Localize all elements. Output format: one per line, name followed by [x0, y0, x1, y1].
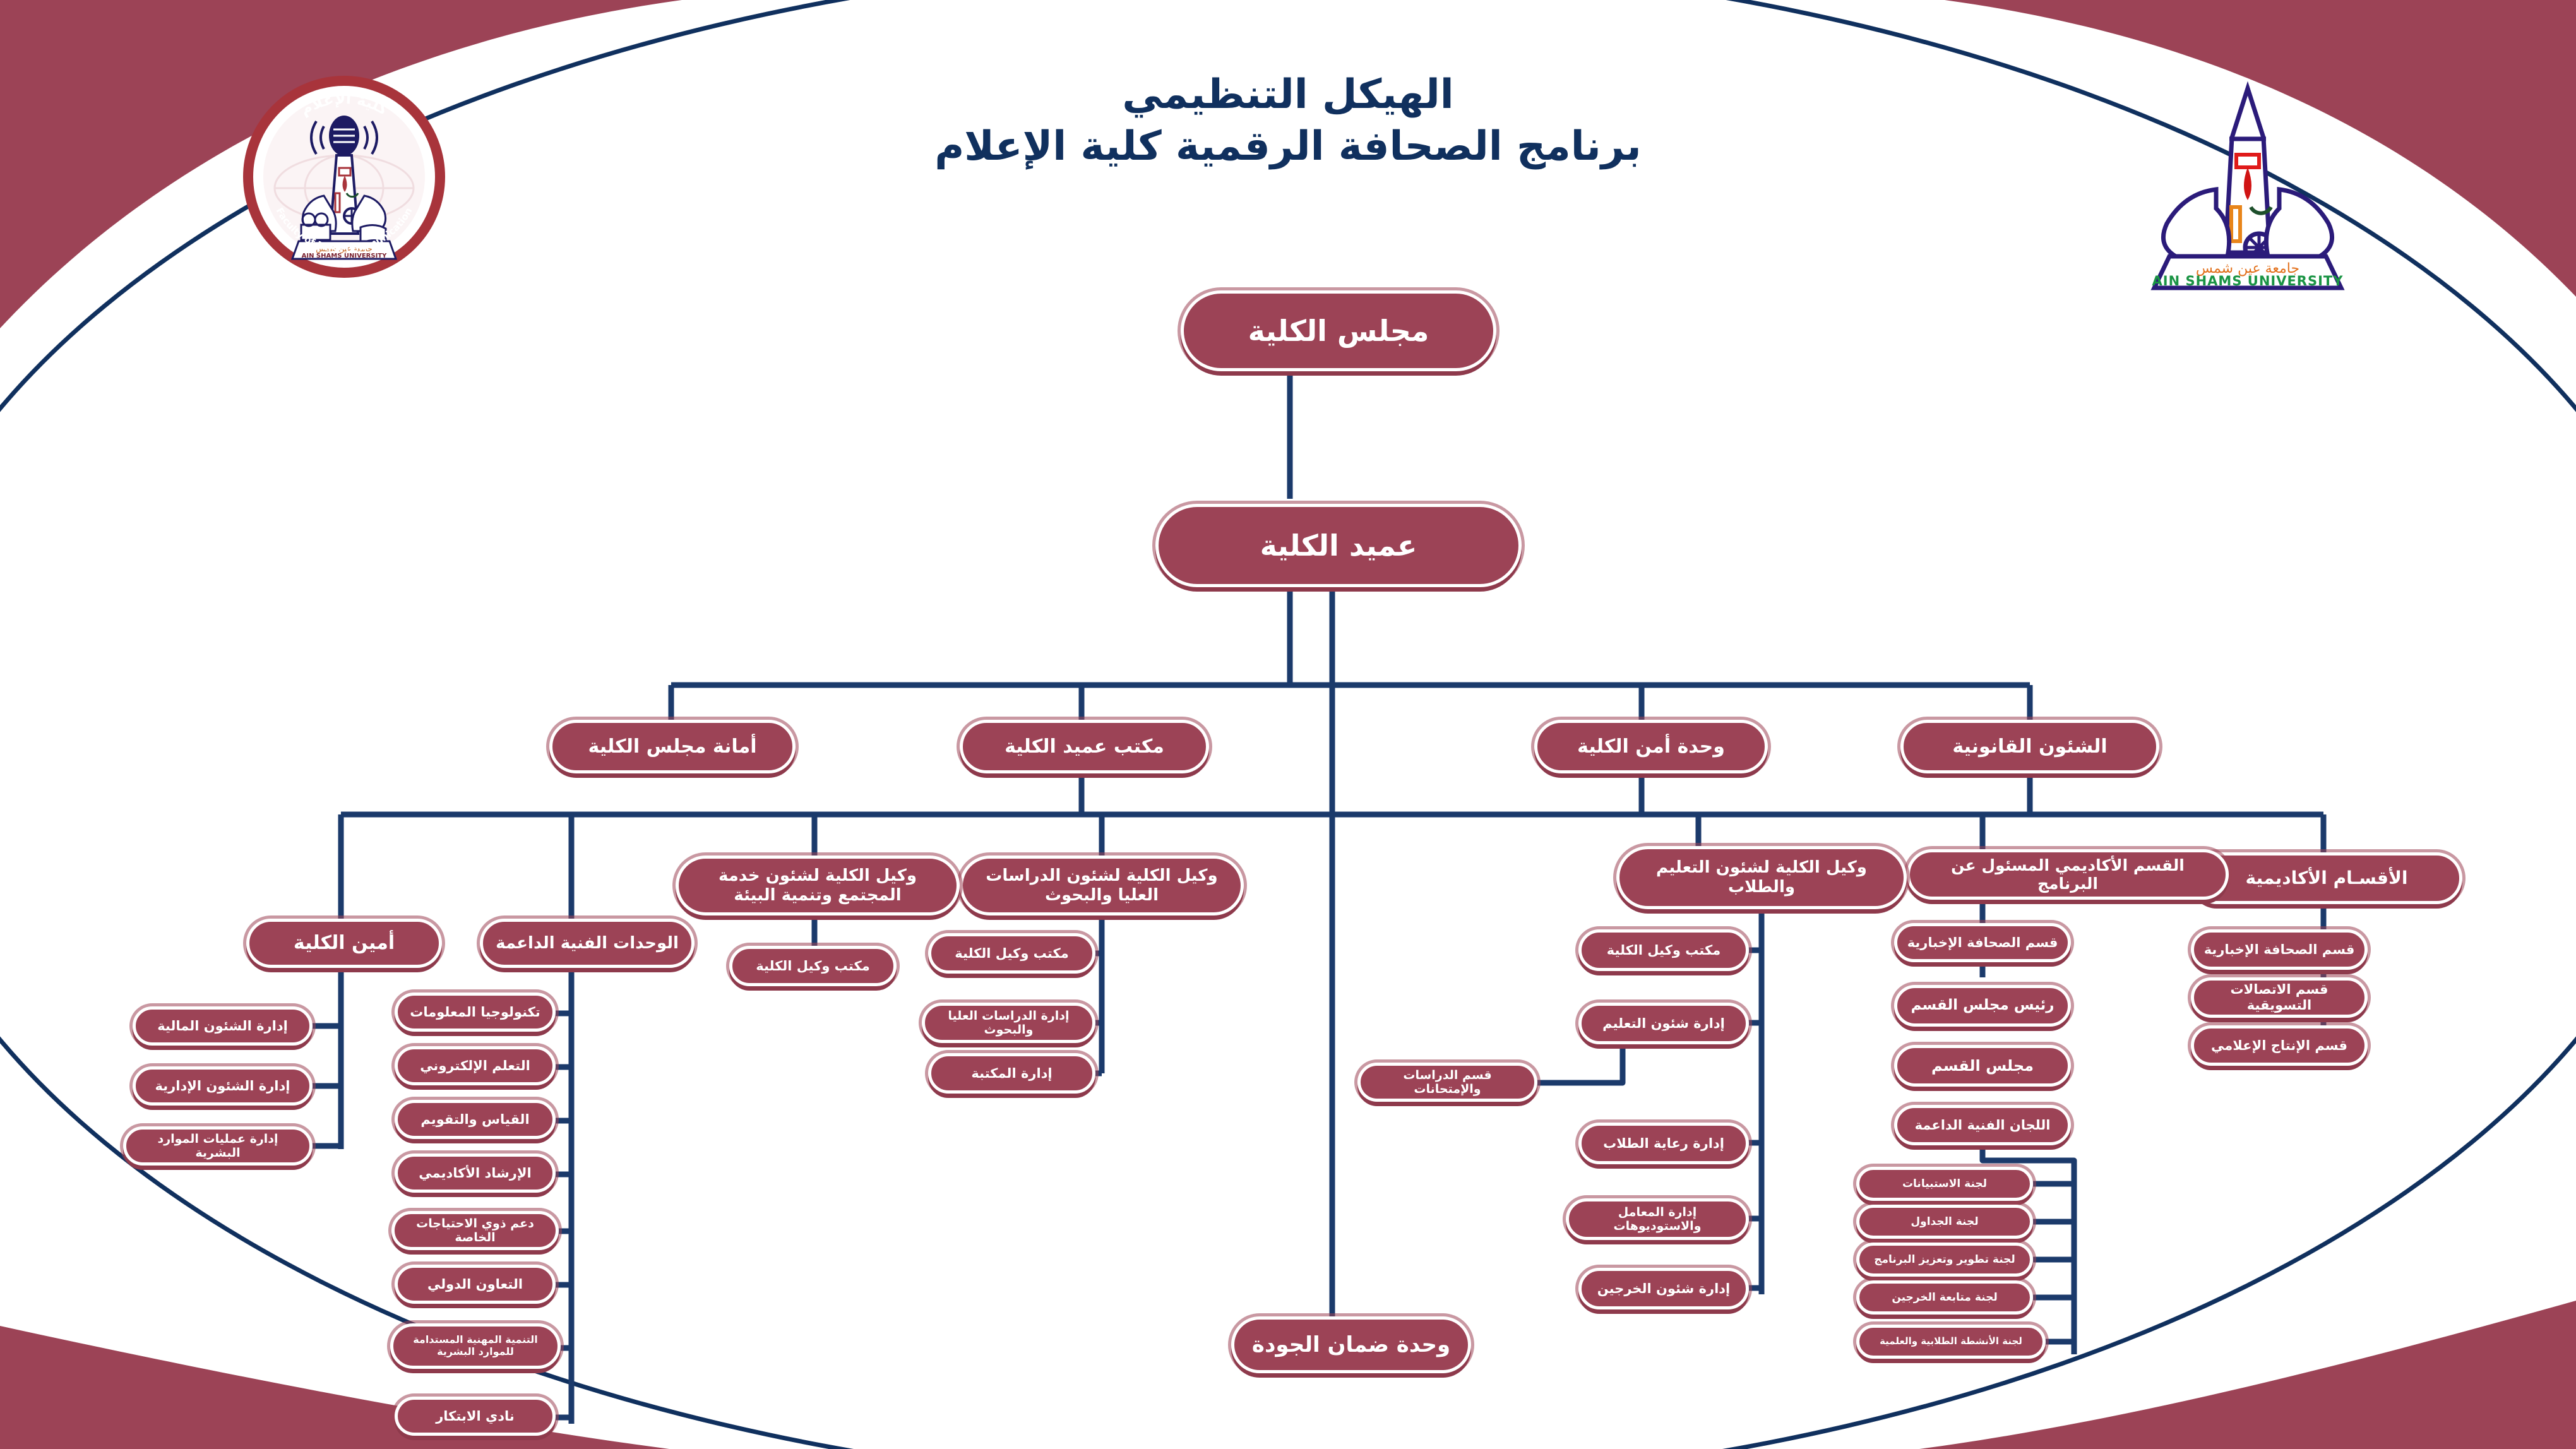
- node-legal-affairs[interactable]: الشئون القانونية: [1900, 720, 2159, 773]
- node-dean-office[interactable]: مكتب عميد الكلية: [960, 720, 1209, 773]
- node-student-care-dept[interactable]: إدارة رعاية الطلاب: [1578, 1123, 1749, 1164]
- node-dept-news-journalism[interactable]: قسم الصحافة الإخبارية: [2191, 929, 2368, 970]
- node-committee-student-scientific-activities[interactable]: لجنة الأنشطة الطلابية والعلمية: [1856, 1325, 2046, 1359]
- node-committee-questionnaires[interactable]: لجنة الاستبيانات: [1856, 1167, 2033, 1201]
- node-supporting-technical-units[interactable]: الوحدات الفنية الداعمة: [480, 919, 695, 968]
- node-library-dept[interactable]: إدارة المكتبة: [928, 1053, 1095, 1094]
- node-committee-schedules[interactable]: لجنة الجداول: [1856, 1205, 2033, 1239]
- node-dept-marketing-communications[interactable]: قسم الاتصالات التسويقية: [2191, 977, 2368, 1018]
- node-vice-dean-office-education[interactable]: مكتب وكيل الكلية: [1578, 929, 1749, 971]
- node-vice-dean-office-community[interactable]: مكتب وكيل الكلية: [729, 946, 897, 986]
- node-committee-alumni-followup[interactable]: لجنة متابعة الخرجين: [1856, 1280, 2033, 1315]
- node-unit-special-needs-support[interactable]: دعم ذوي الاحتياجات الخاصة: [391, 1211, 559, 1250]
- node-unit-international-cooperation[interactable]: التعاون الدولي: [395, 1265, 556, 1304]
- title-line-1: الهيكل التنظيمي: [796, 69, 1780, 121]
- node-vice-dean-community-environment[interactable]: وكيل الكلية لشئون خدمة المجتمع وتنمية ال…: [676, 856, 960, 915]
- node-hr-operations-dept[interactable]: إدارة عمليات الموارد البشرية: [123, 1126, 313, 1166]
- node-dept-council[interactable]: مجلس القسم: [1894, 1045, 2071, 1087]
- title-line-2: برنامج الصحافة الرقمية كلية الإعلام: [796, 121, 1780, 173]
- node-unit-sustainable-professional-development[interactable]: التنمية المهنية المستدامة للموارد البشري…: [390, 1323, 561, 1369]
- node-unit-academic-advising[interactable]: الإرشاد الأكاديمي: [395, 1154, 556, 1193]
- node-faculty-council-secretariat[interactable]: أمانة مجلس الكلية: [549, 720, 796, 773]
- node-administrative-affairs-dept[interactable]: إدارة الشئون الإدارية: [133, 1066, 313, 1106]
- node-dept-council-head[interactable]: رئيس مجلس القسم: [1894, 985, 2071, 1027]
- node-academic-dept-responsible[interactable]: القسم الأكاديمي المسئول عن البرنامج: [1907, 849, 2229, 900]
- node-graduate-studies-research-dept[interactable]: إدارة الدراسات العليا والبحوث: [922, 1003, 1095, 1043]
- node-dept-media-production[interactable]: قسم الإنتاج الإعلامي: [2191, 1025, 2368, 1066]
- org-chart-canvas: جامعة عين شمس AIN SHAMS UNIVERSITY كلية …: [0, 0, 2576, 1449]
- node-financial-affairs-dept[interactable]: إدارة الشئون المالية: [133, 1006, 313, 1046]
- node-quality-assurance-unit[interactable]: وحدة ضمان الجودة: [1231, 1316, 1471, 1373]
- node-unit-innovation-club[interactable]: نادي الابتكار: [395, 1397, 556, 1436]
- node-faculty-security-unit[interactable]: وحدة أمن الكلية: [1534, 720, 1768, 773]
- node-vice-dean-education-students[interactable]: وكيل الكلية لشئون التعليم والطلاب: [1616, 846, 1907, 909]
- node-unit-information-technology[interactable]: تكنولوجيا المعلومات: [395, 993, 556, 1032]
- node-unit-e-learning[interactable]: التعلم الإلكتروني: [395, 1046, 556, 1085]
- node-faculty-council[interactable]: مجلس الكلية: [1181, 290, 1496, 371]
- node-supporting-technical-committees[interactable]: اللجان الفنية الداعمة: [1894, 1105, 2071, 1145]
- node-vice-dean-office-graduate[interactable]: مكتب وكيل الكلية: [928, 933, 1095, 974]
- svg-text:AIN SHAMS UNIVERSITY: AIN SHAMS UNIVERSITY: [2152, 273, 2344, 289]
- node-labs-and-studios-dept[interactable]: إدارة المعامل والاستوديوهات: [1566, 1198, 1749, 1240]
- node-education-affairs-dept[interactable]: إدارة شئون التعليم: [1578, 1003, 1749, 1044]
- ain-shams-university-logo: جامعة عين شمس AIN SHAMS UNIVERSITY: [2096, 63, 2399, 290]
- node-committee-program-development[interactable]: لجنة تطوير وتعزيز البرنامج: [1856, 1243, 2033, 1277]
- faculty-of-mass-communication-logo: جامعة عين شمس AIN SHAMS UNIVERSITY كلية …: [243, 76, 445, 278]
- page-title: الهيكل التنظيمي برنامج الصحافة الرقمية ك…: [796, 69, 1780, 173]
- node-faculty-dean[interactable]: عميد الكلية: [1155, 504, 1522, 587]
- node-academic-departments[interactable]: الأقسـام الأكاديمية: [2191, 852, 2462, 904]
- node-alumni-affairs-dept[interactable]: إدارة شئون الخرجين: [1578, 1268, 1749, 1309]
- node-program-dept-news-journalism[interactable]: قسم الصحافة الإخبارية: [1894, 923, 2071, 962]
- node-unit-measurement-evaluation[interactable]: القياس والتقويم: [395, 1100, 556, 1139]
- node-faculty-secretary[interactable]: أمين الكلية: [246, 919, 442, 968]
- node-vice-dean-graduate-research[interactable]: وكيل الكلية لشئون الدراسات العليا والبحو…: [960, 856, 1244, 915]
- node-studies-and-exams-dept[interactable]: قسم الدراسات والإمتحانات: [1357, 1063, 1537, 1102]
